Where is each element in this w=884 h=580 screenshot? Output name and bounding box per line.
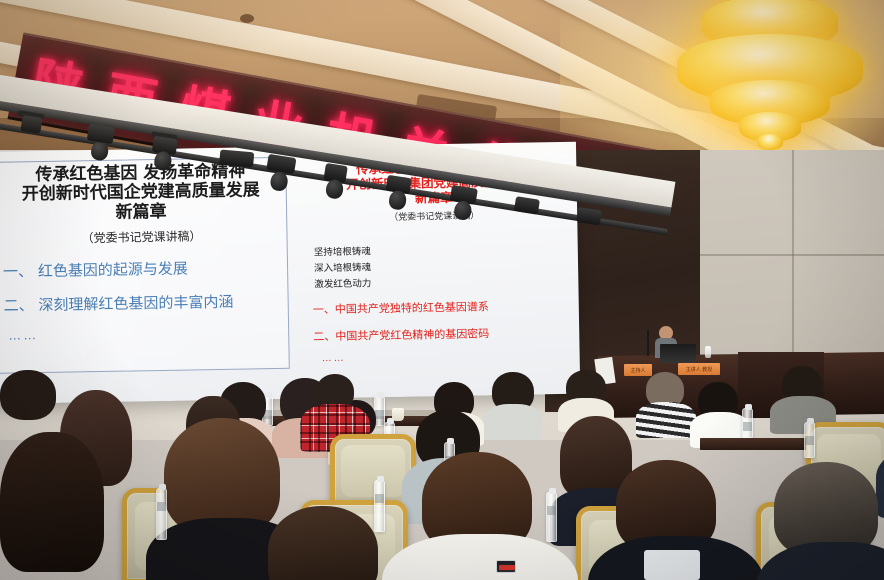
attendee	[756, 462, 884, 580]
slide-left-ellipsis: ……	[2, 323, 284, 343]
water-bottle	[705, 346, 711, 358]
water-bottle	[742, 408, 753, 438]
attendee-striped	[636, 376, 696, 434]
microphone-stand	[647, 330, 649, 356]
name-card-host: 主持人	[624, 364, 652, 376]
name-card-speaker: 主讲人 教授	[678, 363, 720, 375]
slide-right-ellipsis: ……	[308, 349, 566, 365]
attendee-navy-print	[596, 460, 746, 580]
shirt-logo	[496, 560, 516, 573]
attendee	[0, 376, 60, 432]
slide-left-item-2: 二、 深刻理解红色基因的丰富内涵	[1, 290, 283, 316]
attendee	[690, 382, 748, 440]
water-bottle	[374, 480, 385, 532]
attendee-white-tee	[400, 452, 560, 580]
conference-photo: 陕西 煤业 机关 公文 写作 培训 传承红色基因 发扬革命精神	[0, 0, 884, 580]
laptop	[660, 344, 696, 363]
audience	[0, 376, 884, 580]
water-bottle	[804, 422, 815, 458]
attendee	[484, 372, 540, 434]
water-bottle	[156, 488, 167, 540]
attendee	[770, 366, 834, 428]
stage-light	[20, 115, 42, 134]
attendee	[0, 432, 110, 580]
crystal-chandelier	[655, 0, 884, 169]
slide-right-item-2: 二、中国共产党红色精神的基因密码	[307, 324, 565, 345]
water-bottle	[546, 492, 557, 542]
